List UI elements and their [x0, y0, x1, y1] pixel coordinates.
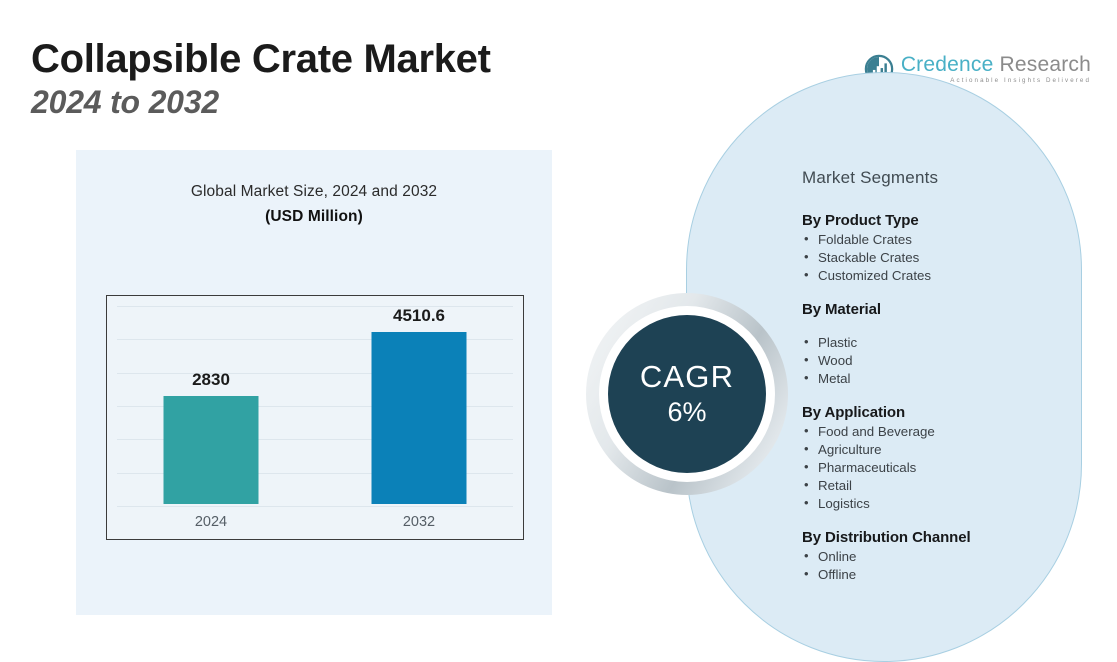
segment-group-title: By Material [802, 301, 1072, 318]
list-item: Logistics [802, 495, 1072, 513]
bar-value-2032: 4510.6 [393, 306, 445, 326]
title-primary: Collapsible Crate Market [31, 36, 491, 82]
bar-column-2032: 4510.6 [315, 296, 523, 504]
logo-word-research: Research [1000, 53, 1091, 76]
chart-plot-area: 2830 4510.6 [107, 296, 523, 504]
list-item: Food and Beverage [802, 423, 1072, 441]
list-item: Online [802, 548, 1072, 566]
segment-group-list: By Product TypeFoldable CratesStackable … [802, 212, 1072, 584]
segments-content: Market Segments By Product TypeFoldable … [802, 168, 1072, 600]
chart-subtitle: (USD Million) [76, 208, 552, 226]
bar-column-2024: 2830 [107, 296, 315, 504]
segments-heading: Market Segments [802, 168, 1072, 188]
logo-word-credence: Credence [901, 53, 994, 76]
bar-chart: 2830 4510.6 2024 2032 [106, 295, 524, 540]
list-item: Agriculture [802, 441, 1072, 459]
segment-item-list: Foldable CratesStackable CratesCustomize… [802, 231, 1072, 285]
title-subtitle: 2024 to 2032 [31, 82, 491, 122]
list-item: Stackable Crates [802, 249, 1072, 267]
segment-group: By ApplicationFood and BeverageAgricultu… [802, 404, 1072, 513]
segment-group: By Distribution ChannelOnlineOffline [802, 529, 1072, 584]
list-item: Retail [802, 477, 1072, 495]
list-item: Metal [802, 370, 1072, 388]
page-title: Collapsible Crate Market 2024 to 2032 [31, 36, 491, 122]
segment-item-list: OnlineOffline [802, 548, 1072, 584]
infographic-root: Collapsible Crate Market 2024 to 2032 Cr… [0, 0, 1117, 662]
segment-group: By Product TypeFoldable CratesStackable … [802, 212, 1072, 285]
x-axis-label-2024: 2024 [107, 504, 315, 539]
cagr-badge: CAGR 6% [586, 293, 788, 495]
cagr-value: 6% [667, 396, 706, 428]
segment-group-title: By Distribution Channel [802, 529, 1072, 546]
chart-title: Global Market Size, 2024 and 2032 [76, 183, 552, 201]
bar-value-2024: 2830 [192, 370, 230, 390]
segment-item-list: Food and BeverageAgriculturePharmaceutic… [802, 423, 1072, 513]
segment-group: By MaterialPlasticWoodMetal [802, 301, 1072, 388]
cagr-circle: CAGR 6% [608, 315, 766, 473]
logo-wordmark: Credence Research [901, 54, 1091, 75]
segment-item-list: PlasticWoodMetal [802, 334, 1072, 388]
bar-2024[interactable] [164, 396, 259, 504]
list-item: Customized Crates [802, 267, 1072, 285]
list-item: Foldable Crates [802, 231, 1072, 249]
list-item: Pharmaceuticals [802, 459, 1072, 477]
list-item: Wood [802, 352, 1072, 370]
list-item: Offline [802, 566, 1072, 584]
cagr-label: CAGR [640, 360, 734, 394]
bar-2032[interactable] [372, 332, 467, 504]
x-axis-labels: 2024 2032 [107, 504, 523, 539]
x-axis-label-2032: 2032 [315, 504, 523, 539]
segment-group-title: By Application [802, 404, 1072, 421]
list-item: Plastic [802, 334, 1072, 352]
segment-group-title: By Product Type [802, 212, 1072, 229]
chart-panel: Global Market Size, 2024 and 2032 (USD M… [76, 150, 552, 615]
